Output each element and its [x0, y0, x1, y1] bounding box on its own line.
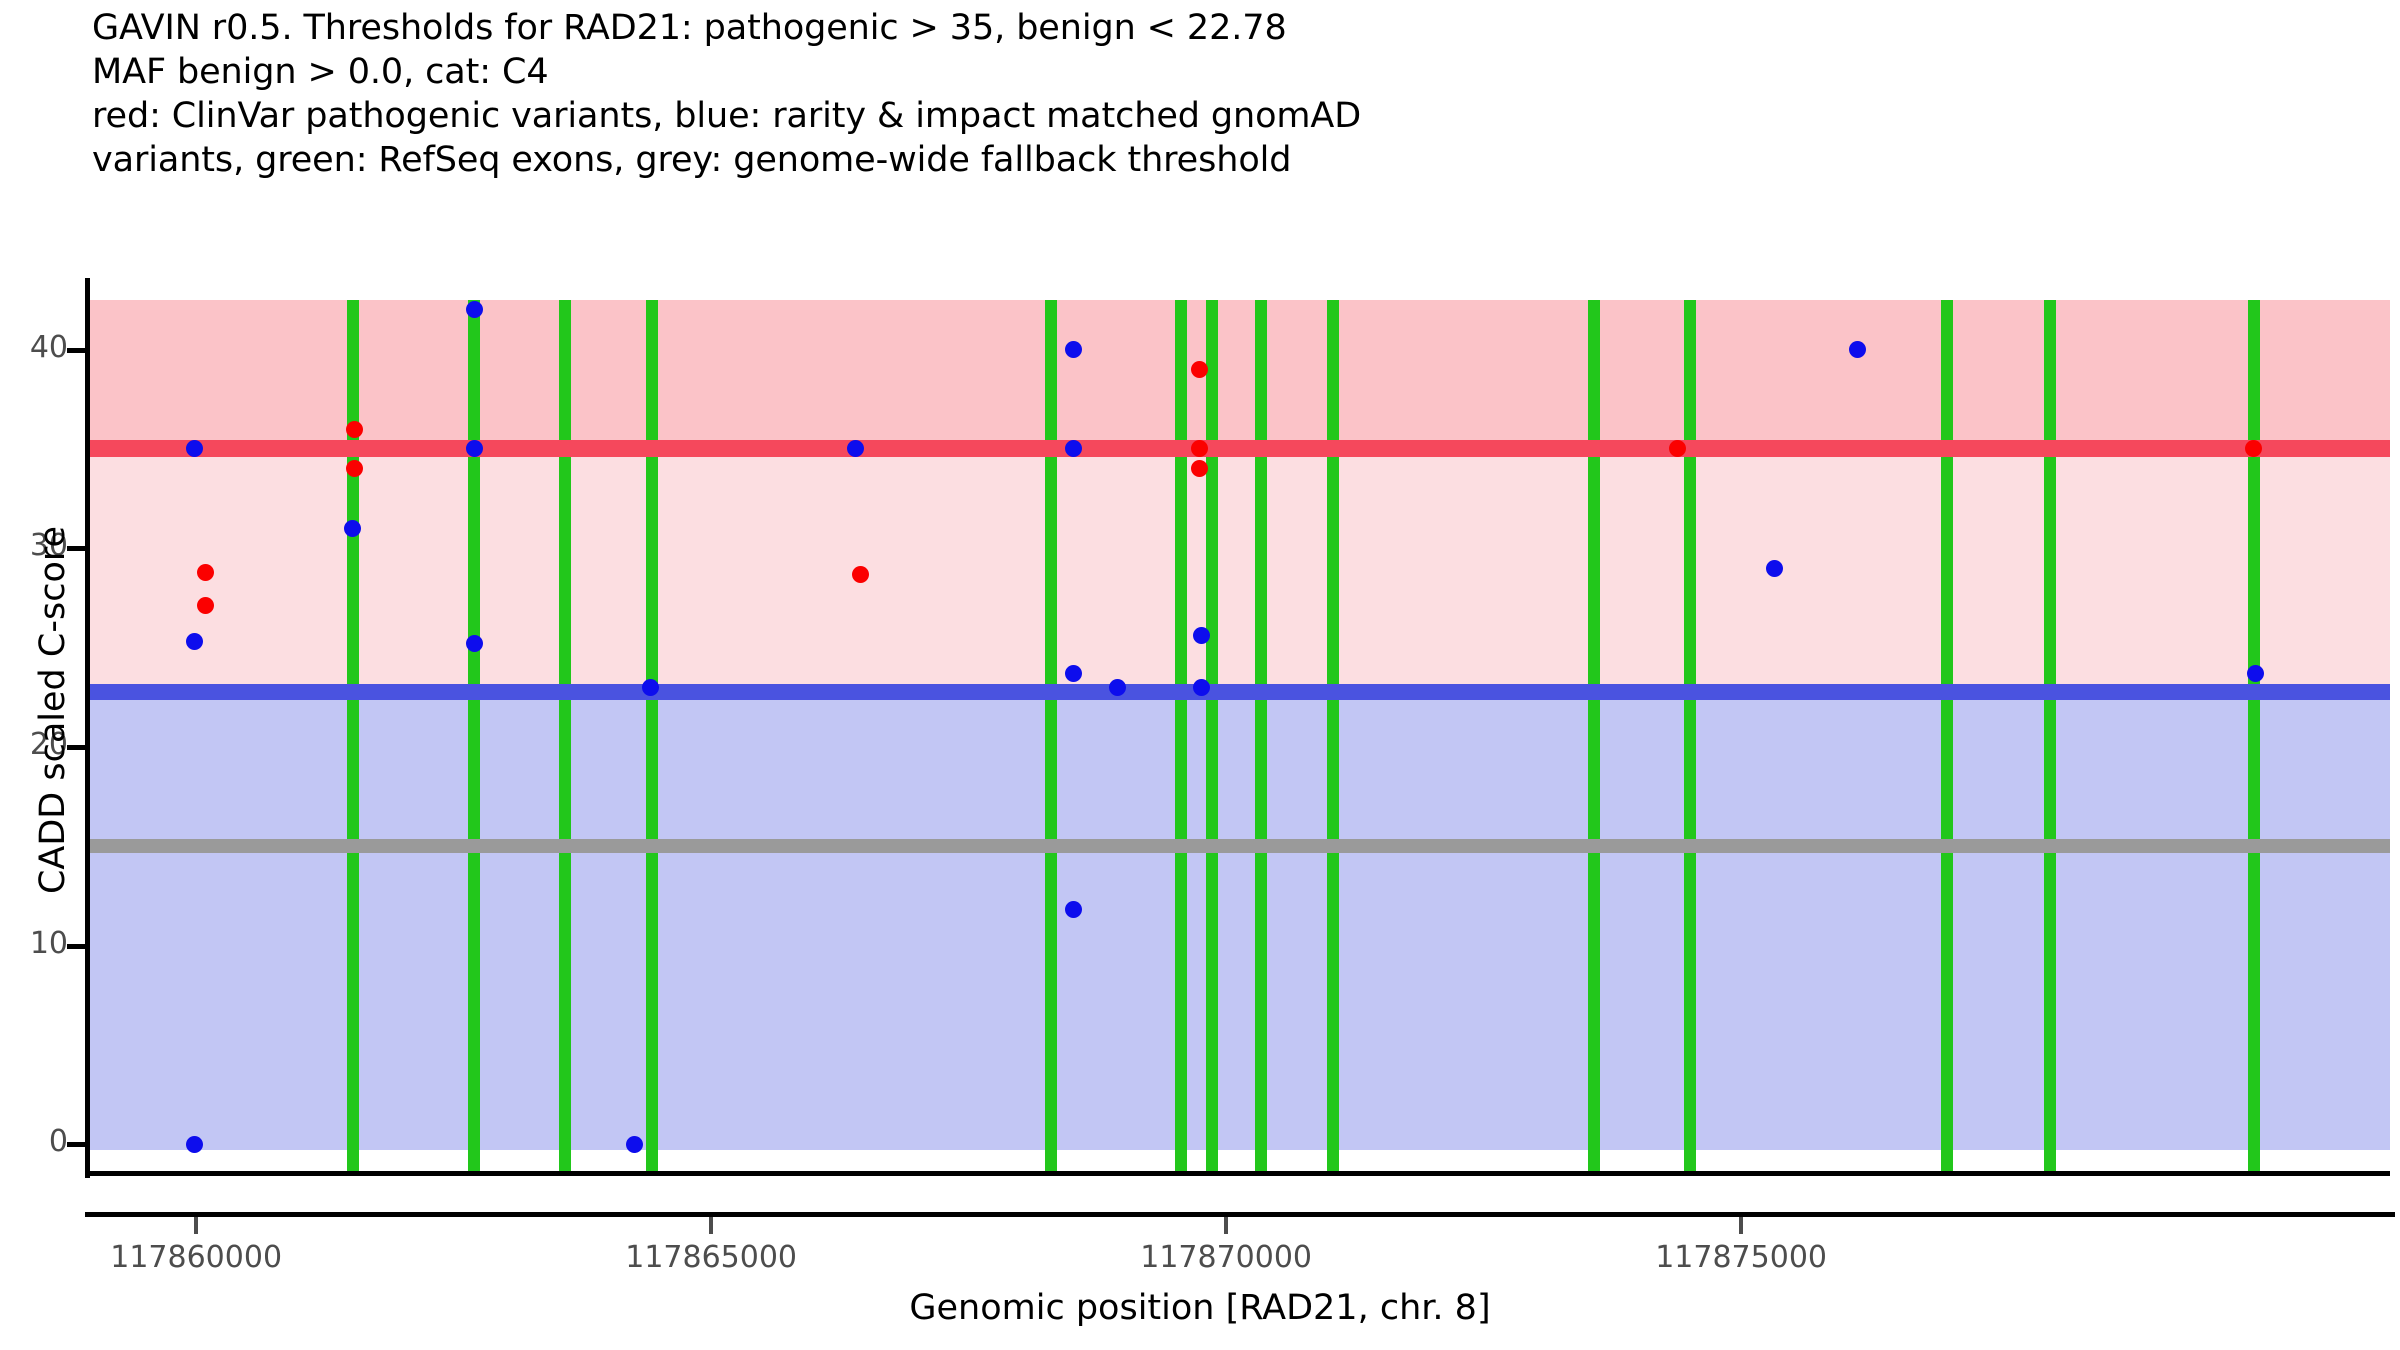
clinvar-pathogenic-point	[346, 421, 363, 438]
x-axis-tick	[709, 1217, 713, 1234]
y-axis-tick	[67, 348, 86, 353]
clinvar-pathogenic-point	[197, 564, 214, 581]
refseq-exon-bar	[1588, 300, 1600, 1174]
gnomad-variant-point	[1766, 560, 1783, 577]
x-axis-tick-label: 117870000	[1140, 1240, 1312, 1275]
chart-title-block: GAVIN r0.5. Thresholds for RAD21: pathog…	[92, 6, 2092, 182]
refseq-exon-bar	[1175, 300, 1187, 1174]
refseq-exon-bar	[646, 300, 658, 1174]
refseq-exon-bar	[2044, 300, 2056, 1174]
chart-title-line-4: variants, green: RefSeq exons, grey: gen…	[92, 138, 2092, 182]
x-axis-ruler	[85, 1212, 2395, 1217]
plot-panel	[88, 300, 2390, 1174]
pathogenic-threshold-line	[88, 440, 2390, 457]
gnomad-variant-point	[642, 679, 659, 696]
x-axis-tick	[194, 1217, 198, 1234]
refseq-exon-bar	[2248, 300, 2260, 1174]
x-axis-tick-label: 117865000	[625, 1240, 797, 1275]
chart-title-line-2: MAF benign > 0.0, cat: C4	[92, 50, 2092, 94]
refseq-exon-bar	[1684, 300, 1696, 1174]
gnomad-variant-point	[1193, 627, 1210, 644]
clinvar-pathogenic-point	[2245, 440, 2262, 457]
gnomad-variant-point	[1065, 341, 1082, 358]
x-axis-tick-label: 117875000	[1655, 1240, 1827, 1275]
clinvar-pathogenic-point	[852, 566, 869, 583]
refseq-exon-bar	[1941, 300, 1953, 1174]
gnomad-variant-point	[186, 1136, 203, 1153]
chart-title-line-3: red: ClinVar pathogenic variants, blue: …	[92, 94, 2092, 138]
y-axis-tick-label: 0	[0, 1124, 68, 1159]
x-axis-tick-label: 117860000	[110, 1240, 282, 1275]
gnomad-variant-point	[466, 635, 483, 652]
gnomad-variant-point	[2247, 665, 2264, 682]
refseq-exon-bar	[1045, 300, 1057, 1174]
x-axis-tick	[1739, 1217, 1743, 1234]
gnomad-variant-point	[1193, 679, 1210, 696]
gnomad-variant-point	[344, 520, 361, 537]
gnomad-variant-point	[626, 1136, 643, 1153]
refseq-exon-bar	[1206, 300, 1218, 1174]
y-axis-line	[85, 278, 90, 1178]
refseq-exon-bar	[468, 300, 480, 1174]
fallback-threshold-line	[88, 839, 2390, 853]
y-axis-title: CADD scaled C-score	[33, 360, 73, 1060]
chart-title-line-1: GAVIN r0.5. Thresholds for RAD21: pathog…	[92, 6, 2092, 50]
x-axis-title: Genomic position [RAD21, chr. 8]	[0, 1288, 2400, 1328]
refseq-exon-bar	[1327, 300, 1339, 1174]
gnomad-variant-point	[1065, 901, 1082, 918]
x-axis-line	[85, 1171, 2390, 1176]
gnomad-variant-point	[1065, 665, 1082, 682]
x-axis-tick	[1224, 1217, 1228, 1234]
benign-threshold-line	[88, 684, 2390, 700]
refseq-exon-bar	[1255, 300, 1267, 1174]
refseq-exon-bar	[559, 300, 571, 1174]
y-axis-tick	[67, 1142, 86, 1147]
